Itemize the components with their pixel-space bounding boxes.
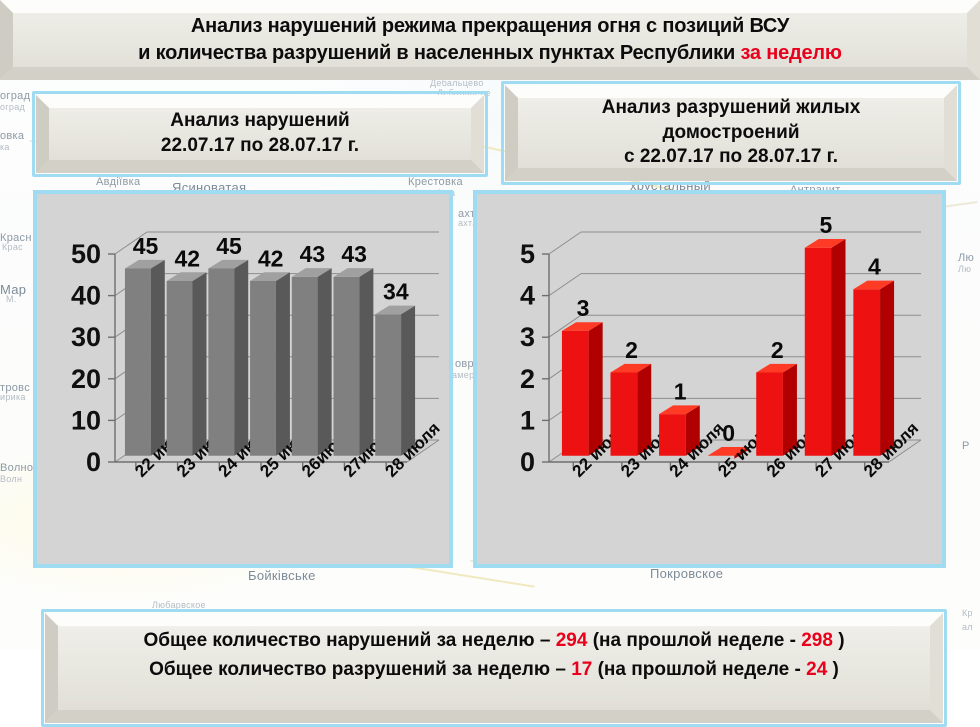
map-place-label: Крестовка <box>408 176 463 188</box>
violations-chart-plot: 010203040504522 июля4223 июля4524 июля42… <box>37 194 449 564</box>
map-place-label: Р <box>962 440 970 452</box>
svg-text:1: 1 <box>674 378 687 404</box>
right-subtitle-line-1: Анализ разрушений жилых <box>602 96 861 121</box>
title-line-2-text: и количества разрушений в населенных пун… <box>138 42 740 64</box>
footer-line-2-prev: 24 <box>806 659 827 680</box>
svg-text:45: 45 <box>216 233 242 259</box>
slide-title-panel: Анализ нарушений режима прекращения огня… <box>0 0 980 80</box>
map-place-label: оград <box>0 90 30 102</box>
map-place-label: Лю <box>958 264 971 274</box>
bevel-right <box>967 0 980 80</box>
svg-text:43: 43 <box>341 241 367 267</box>
footer-line-1-total: 294 <box>556 630 588 651</box>
svg-text:42: 42 <box>258 245 284 271</box>
left-subtitle-line-2: 22.07.17 по 28.07.17 г. <box>161 134 359 159</box>
map-place-label: Кр <box>962 608 973 618</box>
map-place-label: ал <box>962 622 973 632</box>
footer-line-1-mid: (на прошлой неделе - <box>593 630 796 651</box>
destructions-chart-panel[interactable]: 012345322 июля223 июля124 июля025 июля22… <box>473 190 946 568</box>
svg-text:1: 1 <box>520 405 535 435</box>
title-accent-text: за неделю <box>740 42 841 64</box>
bevel-top <box>45 613 943 626</box>
svg-text:0: 0 <box>520 447 535 477</box>
svg-text:5: 5 <box>520 239 535 269</box>
right-subtitle-line-2: домостроений <box>662 121 799 146</box>
svg-text:2: 2 <box>520 364 535 394</box>
svg-text:42: 42 <box>174 245 200 271</box>
right-subtitle-line-3: с 22.07.17 по 28.07.17 г. <box>624 145 838 170</box>
map-place-label: ирика <box>0 392 26 402</box>
footer-line-1-prefix: Общее количество нарушений за неделю – <box>143 630 550 651</box>
map-place-label: Крас <box>2 242 23 252</box>
left-subtitle-content: Анализ нарушений 22.07.17 по 28.07.17 г. <box>49 108 471 160</box>
bevel-left <box>0 0 13 80</box>
svg-text:40: 40 <box>71 281 101 311</box>
svg-text:45: 45 <box>133 233 159 259</box>
bevel-bottom <box>36 160 484 173</box>
map-place-label: Авдіївка <box>96 176 140 188</box>
map-place-label: Бойківське <box>248 568 316 583</box>
svg-text:34: 34 <box>383 279 409 305</box>
svg-text:43: 43 <box>300 241 326 267</box>
footer-content: Общее количество нарушений за неделю – 2… <box>63 626 925 710</box>
map-place-label: Лю <box>958 252 974 264</box>
svg-text:4: 4 <box>868 254 881 280</box>
bevel-left <box>45 613 58 723</box>
svg-text:30: 30 <box>71 322 101 352</box>
svg-text:4: 4 <box>520 281 535 311</box>
violations-chart-panel[interactable]: 010203040504522 июля4223 июля4524 июля42… <box>33 190 453 568</box>
title-line-2: и количества разрушений в населенных пун… <box>138 40 842 67</box>
footer-line-2-suffix: ) <box>833 659 839 680</box>
bevel-right <box>471 95 484 173</box>
footer-panel: Общее количество нарушений за неделю – 2… <box>45 613 943 723</box>
svg-text:2: 2 <box>625 337 638 363</box>
footer-line-1-suffix: ) <box>838 630 844 651</box>
right-subtitle-panel: Анализ разрушений жилых домостроений с 2… <box>505 85 957 181</box>
map-place-label: оград <box>0 102 25 112</box>
svg-text:0: 0 <box>722 420 735 446</box>
bevel-bottom <box>45 710 943 723</box>
footer-line-1-prev: 298 <box>801 630 833 651</box>
bevel-left <box>36 95 49 173</box>
map-place-label: Волн <box>0 474 22 484</box>
svg-text:50: 50 <box>71 239 101 269</box>
left-subtitle-panel: Анализ нарушений 22.07.17 по 28.07.17 г. <box>36 95 484 173</box>
map-place-label: ка <box>0 142 10 152</box>
svg-text:3: 3 <box>520 322 535 352</box>
bevel-right <box>930 613 943 723</box>
bevel-right <box>944 85 957 181</box>
footer-line-2-mid: (на прошлой неделе - <box>598 659 801 680</box>
title-content: Анализ нарушений режима прекращения огня… <box>16 10 964 70</box>
footer-line-2: Общее количество разрушений за неделю – … <box>149 655 839 684</box>
map-place-label: овка <box>0 130 24 142</box>
destructions-chart-plot: 012345322 июля223 июля124 июля025 июля22… <box>477 194 942 564</box>
svg-text:0: 0 <box>86 447 101 477</box>
right-subtitle-content: Анализ разрушений жилых домостроений с 2… <box>518 98 944 168</box>
bevel-left <box>505 85 518 181</box>
svg-text:20: 20 <box>71 364 101 394</box>
map-place-label: М. <box>6 294 17 304</box>
footer-line-2-total: 17 <box>571 659 592 680</box>
svg-text:2: 2 <box>771 337 784 363</box>
map-place-label: Волно <box>0 462 33 474</box>
title-line-1: Анализ нарушений режима прекращения огня… <box>191 13 789 40</box>
footer-line-1: Общее количество нарушений за неделю – 2… <box>143 626 844 655</box>
map-place-label: Покровское <box>650 566 723 581</box>
svg-text:3: 3 <box>577 295 590 321</box>
svg-text:10: 10 <box>71 405 101 435</box>
left-subtitle-line-1: Анализ нарушений <box>170 109 349 134</box>
bevel-top <box>36 95 484 108</box>
footer-line-2-prefix: Общее количество разрушений за неделю – <box>149 659 566 680</box>
svg-text:5: 5 <box>819 212 832 238</box>
